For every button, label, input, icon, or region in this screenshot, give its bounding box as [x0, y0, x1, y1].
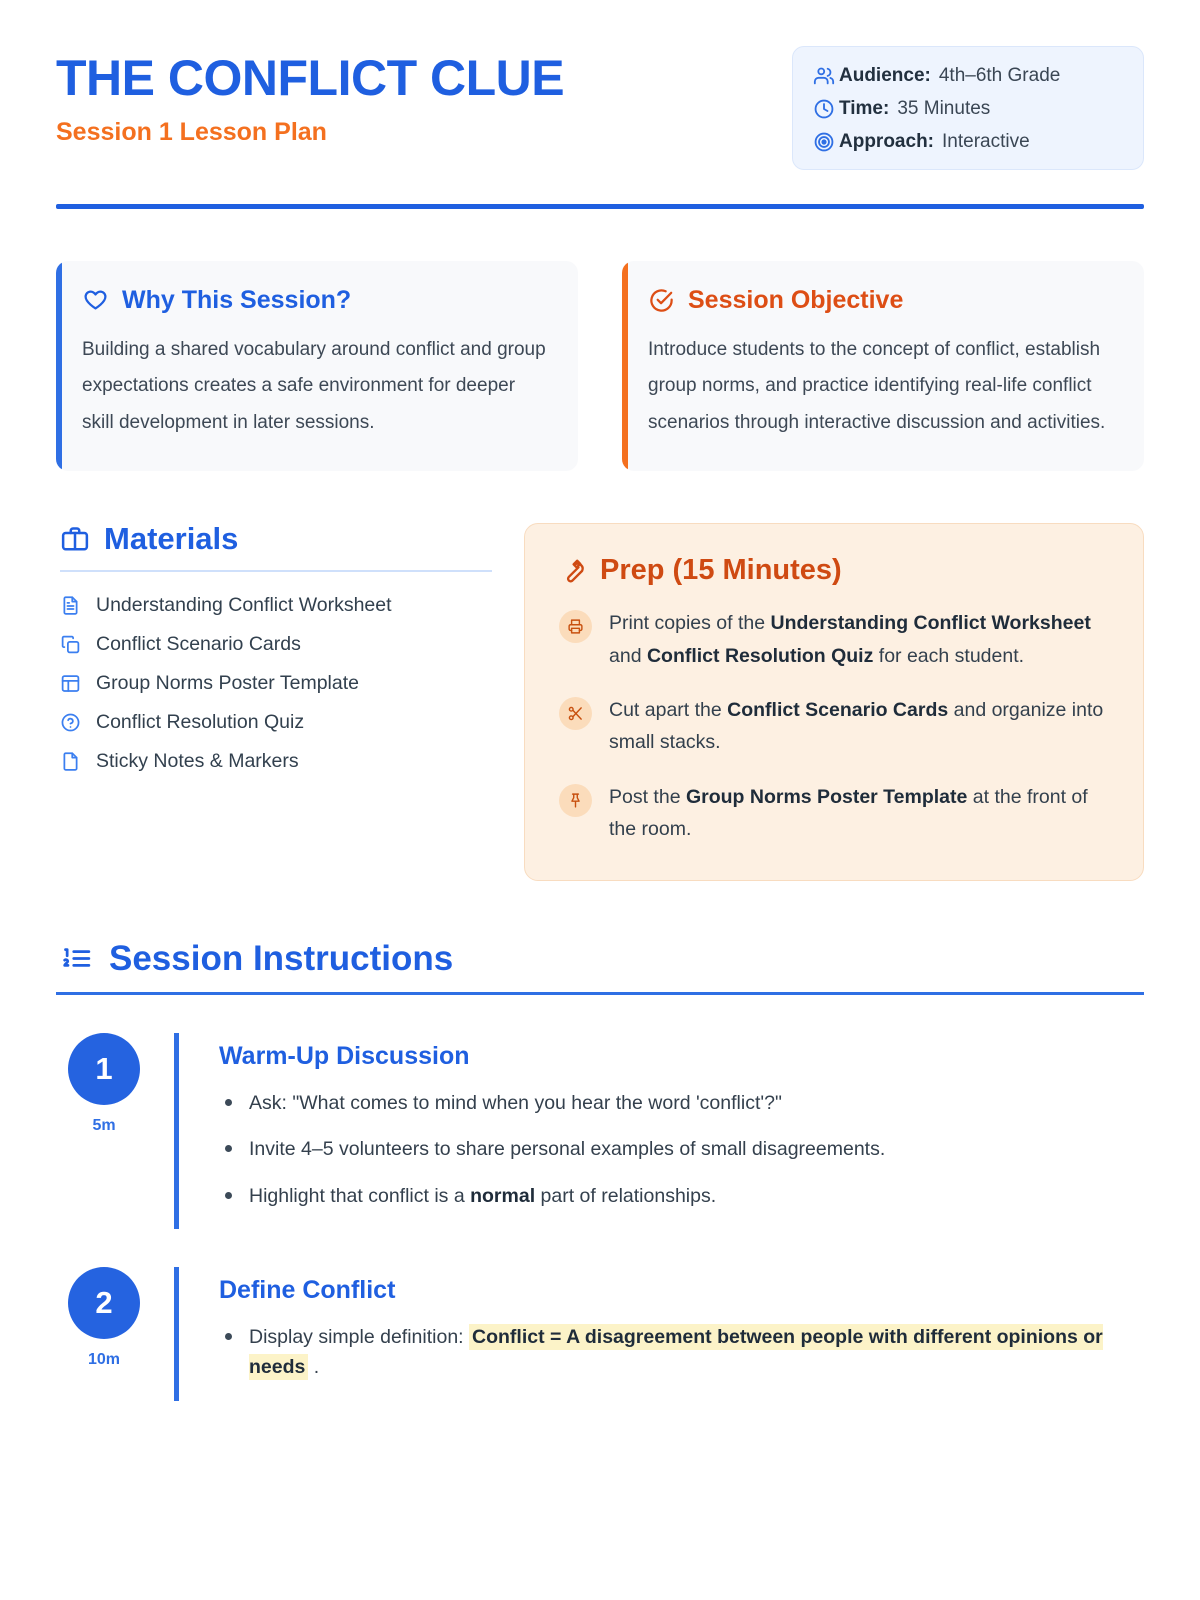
material-label: Conflict Scenario Cards [96, 633, 301, 656]
copy-icon [60, 634, 81, 655]
file-icon [60, 751, 81, 772]
page-subtitle: Session 1 Lesson Plan [56, 119, 564, 147]
check-circle-icon [648, 287, 675, 314]
step-content: Warm-Up Discussion Ask: "What comes to m… [174, 1033, 1144, 1229]
meta-label-time: Time: [839, 98, 889, 120]
materials-prep-row: Materials Understanding Conflict Workshe… [56, 523, 1144, 880]
briefcase-icon [60, 524, 90, 554]
list-item: Sticky Notes & Markers [60, 750, 492, 773]
step-bullet-list: Display simple definition: Conflict = A … [219, 1322, 1144, 1382]
header-divider [56, 204, 1144, 209]
target-icon [813, 131, 839, 153]
instruction-step: 1 5m Warm-Up Discussion Ask: "What comes… [56, 1033, 1144, 1229]
file-text-icon [60, 595, 81, 616]
meta-value-time: 35 Minutes [897, 98, 990, 120]
page-title: THE CONFLICT CLUE [56, 52, 564, 105]
pin-icon [559, 784, 592, 817]
session-instructions-header: Session Instructions [56, 941, 1144, 976]
users-icon [813, 65, 839, 87]
instruction-step: 2 10m Define Conflict Display simple def… [56, 1267, 1144, 1401]
card-header: Why This Session? [82, 287, 548, 314]
step-duration: 5m [60, 1117, 148, 1135]
prep-item: Post the Group Norms Poster Template at … [559, 781, 1109, 846]
meta-row-audience: Audience: 4th–6th Grade [813, 65, 1119, 87]
list-item: Ask: "What comes to mind when you hear t… [219, 1088, 1144, 1118]
prep-header: Prep (15 Minutes) [559, 556, 1109, 585]
heart-icon [82, 287, 109, 314]
list-item: Group Norms Poster Template [60, 672, 492, 695]
materials-header: Materials [60, 523, 492, 554]
prep-text: Cut apart the Conflict Scenario Cards an… [609, 694, 1109, 759]
step-bullet-list: Ask: "What comes to mind when you hear t… [219, 1088, 1144, 1211]
list-item: Display simple definition: Conflict = A … [219, 1322, 1144, 1382]
instructions-divider [56, 992, 1144, 995]
meta-row-time: Time: 35 Minutes [813, 98, 1119, 120]
card-body: Building a shared vocabulary around conf… [82, 332, 548, 441]
prep-text: Post the Group Norms Poster Template at … [609, 781, 1109, 846]
document-header: THE CONFLICT CLUE Session 1 Lesson Plan … [56, 46, 1144, 170]
session-meta-box: Audience: 4th–6th Grade Time: 35 Minutes [792, 46, 1144, 170]
step-title: Warm-Up Discussion [219, 1043, 1144, 1071]
layout-icon [60, 673, 81, 694]
material-label: Sticky Notes & Markers [96, 750, 299, 773]
lesson-plan-page: THE CONFLICT CLUE Session 1 Lesson Plan … [0, 0, 1200, 1401]
printer-icon [559, 610, 592, 643]
list-item: Highlight that conflict is a normal part… [219, 1181, 1144, 1211]
step-duration: 10m [60, 1351, 148, 1369]
title-block: THE CONFLICT CLUE Session 1 Lesson Plan [56, 46, 564, 146]
card-title: Session Objective [688, 288, 903, 313]
wrench-icon [559, 557, 587, 585]
list-item: Understanding Conflict Worksheet [60, 594, 492, 617]
list-item: Invite 4–5 volunteers to share personal … [219, 1134, 1144, 1164]
material-label: Understanding Conflict Worksheet [96, 594, 392, 617]
session-objective-card: Session Objective Introduce students to … [622, 261, 1144, 471]
step-title: Define Conflict [219, 1277, 1144, 1305]
card-header: Session Objective [648, 287, 1114, 314]
list-item: Conflict Scenario Cards [60, 633, 492, 656]
materials-list: Understanding Conflict Worksheet Conflic… [60, 594, 492, 773]
session-instructions-title: Session Instructions [109, 941, 453, 976]
step-number-badge: 2 [68, 1267, 140, 1339]
materials-title: Materials [104, 523, 238, 554]
materials-divider [60, 570, 492, 572]
step-content: Define Conflict Display simple definitio… [174, 1267, 1144, 1401]
meta-value-approach: Interactive [942, 131, 1030, 153]
card-body: Introduce students to the concept of con… [648, 332, 1114, 441]
meta-label-approach: Approach: [839, 131, 934, 153]
step-marker: 1 5m [60, 1033, 148, 1229]
why-this-session-card: Why This Session? Building a shared voca… [56, 261, 578, 471]
meta-label-audience: Audience: [839, 65, 931, 87]
help-circle-icon [60, 712, 81, 733]
prep-panel: Prep (15 Minutes) Print copies of the Un… [524, 523, 1144, 880]
clock-icon [813, 98, 839, 120]
material-label: Group Norms Poster Template [96, 672, 359, 695]
step-marker: 2 10m [60, 1267, 148, 1401]
list-item: Conflict Resolution Quiz [60, 711, 492, 734]
material-label: Conflict Resolution Quiz [96, 711, 304, 734]
prep-item: Cut apart the Conflict Scenario Cards an… [559, 694, 1109, 759]
prep-item: Print copies of the Understanding Confli… [559, 607, 1109, 672]
meta-value-audience: 4th–6th Grade [939, 65, 1060, 87]
info-cards: Why This Session? Building a shared voca… [56, 261, 1144, 471]
prep-text: Print copies of the Understanding Confli… [609, 607, 1109, 672]
step-number-badge: 1 [68, 1033, 140, 1105]
materials-section: Materials Understanding Conflict Workshe… [56, 523, 492, 789]
card-title: Why This Session? [122, 288, 351, 313]
prep-title: Prep (15 Minutes) [600, 556, 842, 585]
ordered-list-icon [60, 942, 93, 975]
scissors-icon [559, 697, 592, 730]
meta-row-approach: Approach: Interactive [813, 131, 1119, 153]
